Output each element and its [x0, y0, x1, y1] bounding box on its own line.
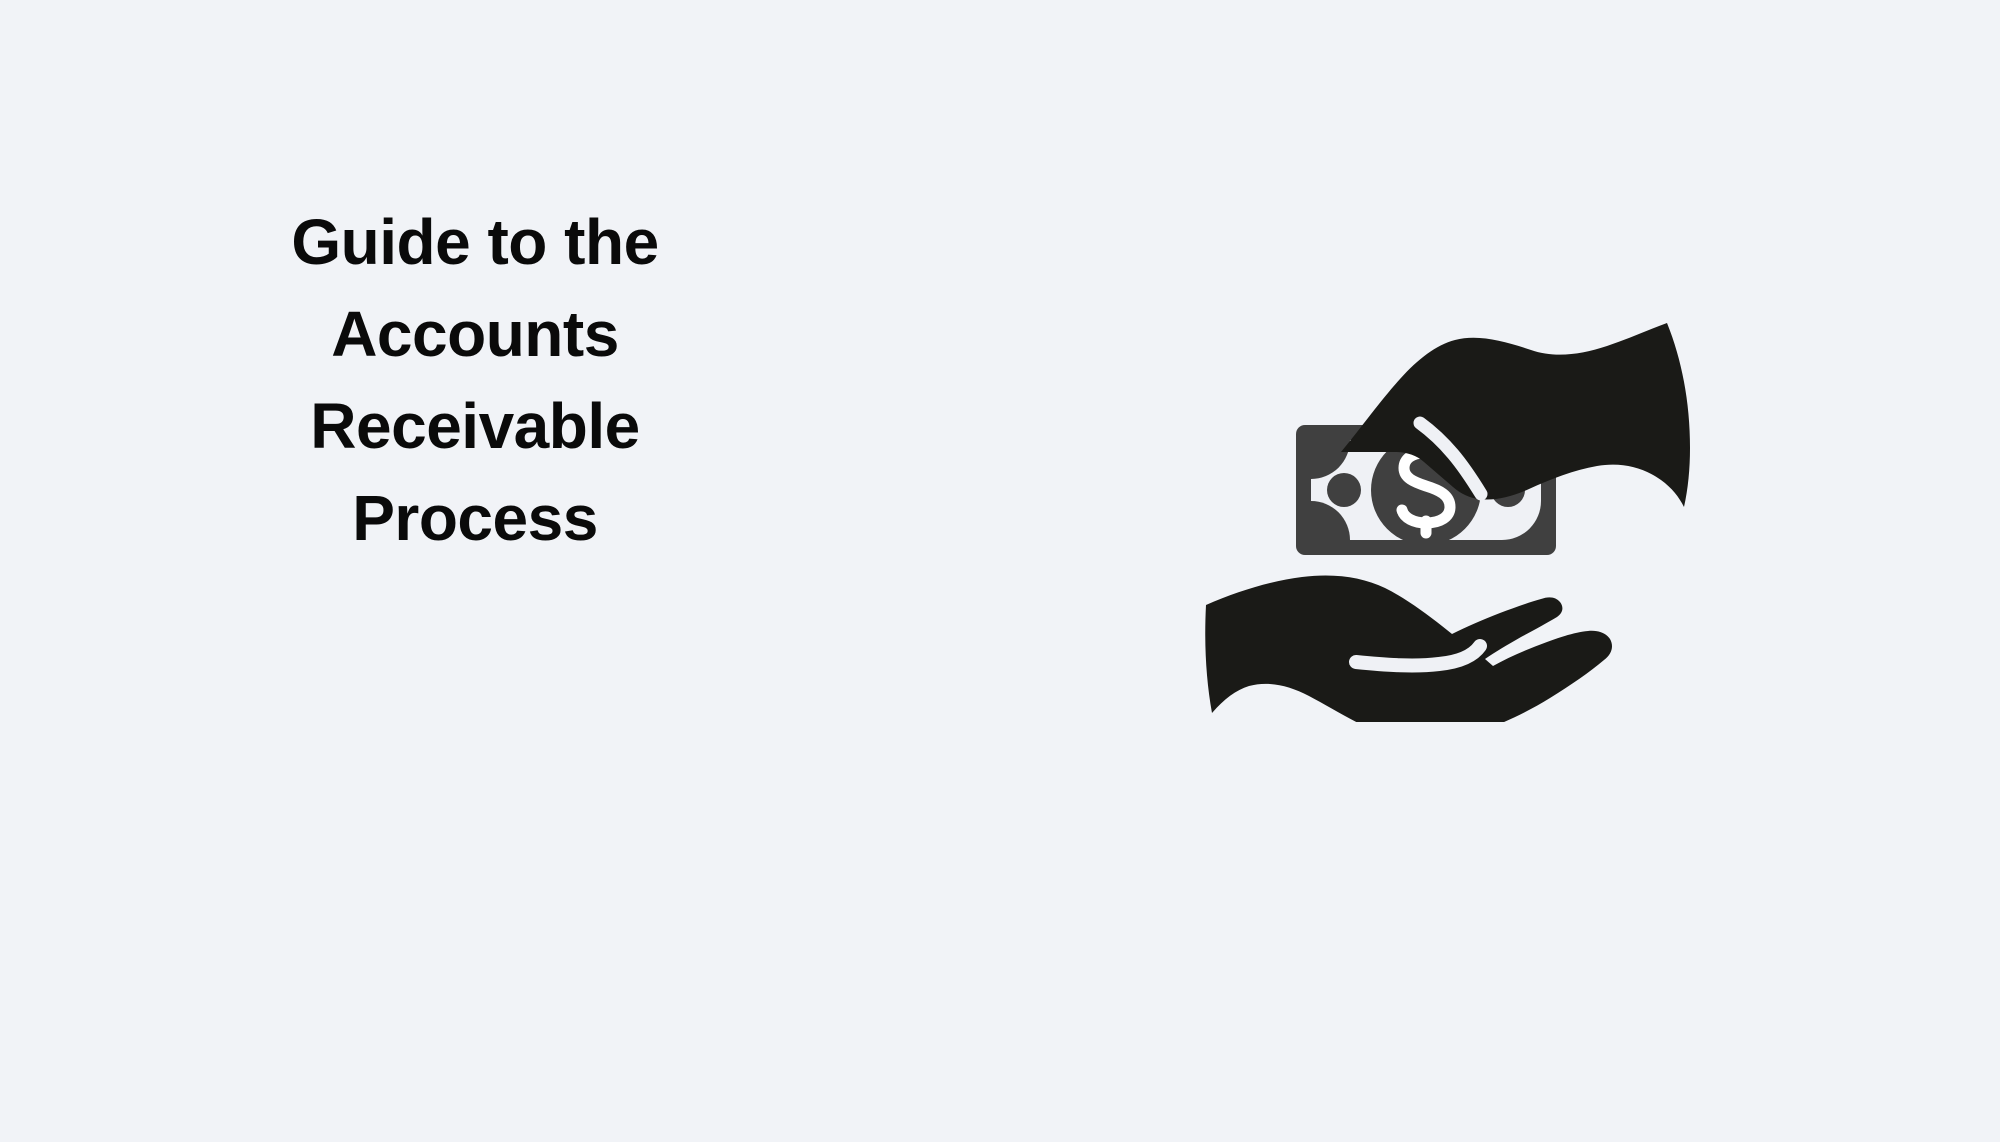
slide-canvas: Guide to the Accounts Receivable Process [0, 0, 2000, 1142]
bill-dot-left [1327, 473, 1361, 507]
title-line-2: Accounts [240, 288, 710, 380]
title-line-4: Process [240, 472, 710, 564]
title-line-3: Receivable [240, 380, 710, 472]
page-title: Guide to the Accounts Receivable Process [240, 196, 710, 564]
money-handoff-icon [1148, 222, 1708, 722]
title-line-1: Guide to the [240, 196, 710, 288]
receiving-hand-icon [1205, 575, 1612, 722]
